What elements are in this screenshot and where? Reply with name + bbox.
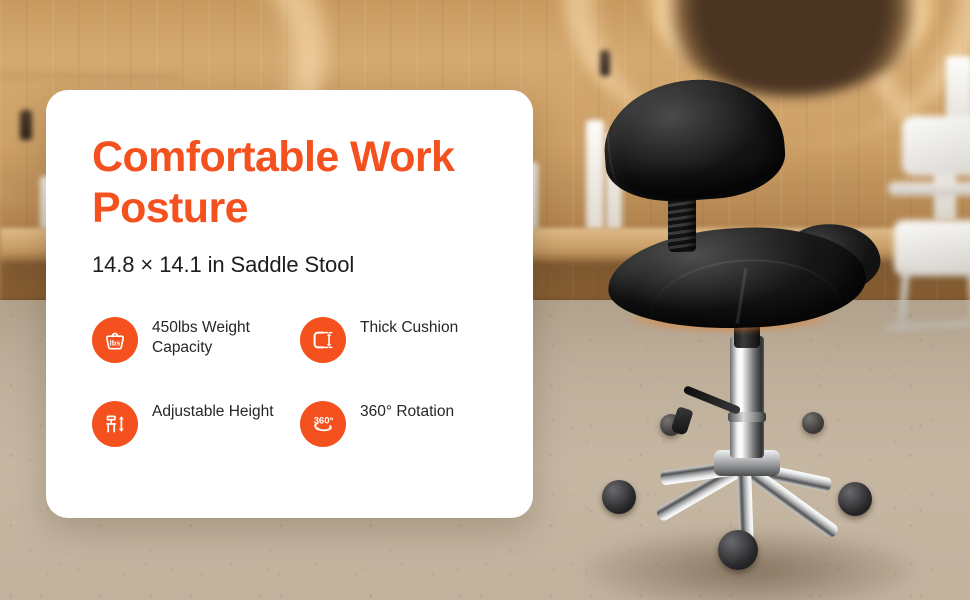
feature-label: Adjustable Height [152, 399, 274, 422]
cushion-thickness-icon [300, 317, 346, 363]
feature-card: Comfortable Work Posture 14.8 × 14.1 in … [46, 90, 533, 518]
stool-caster [838, 482, 872, 516]
page-title: Comfortable Work Posture [92, 132, 495, 234]
feature-item-weight-capacity: lbs 450lbs Weight Capacity [92, 315, 300, 399]
cylinder-band [728, 412, 766, 422]
shelf-ledge [0, 72, 180, 80]
stool-caster [802, 412, 824, 434]
stool-caster [602, 480, 636, 514]
svg-text:lbs: lbs [110, 338, 121, 347]
feature-list: lbs 450lbs Weight Capacity Thic [92, 315, 495, 483]
rotation-360-icon: 360° [300, 401, 346, 447]
feature-label: 360° Rotation [360, 399, 454, 422]
feature-label: Thick Cushion [360, 315, 458, 338]
feature-item-360-rotation: 360° 360° Rotation [300, 399, 508, 483]
adjustable-height-icon [92, 401, 138, 447]
stool-caster [718, 530, 758, 570]
weight-lbs-icon: lbs [92, 317, 138, 363]
product-subtitle: 14.8 × 14.1 in Saddle Stool [92, 251, 495, 279]
feature-label: 450lbs Weight Capacity [152, 315, 282, 358]
feature-item-thick-cushion: Thick Cushion [300, 315, 508, 399]
counter-bottle [600, 50, 610, 76]
height-lever-knob [670, 406, 693, 436]
counter-bottle [20, 110, 32, 140]
gas-lift-cylinder [730, 336, 764, 458]
saddle-stool-product [590, 78, 930, 578]
feature-item-adjustable-height: Adjustable Height [92, 399, 300, 483]
banner-stage: Comfortable Work Posture 14.8 × 14.1 in … [0, 0, 970, 600]
